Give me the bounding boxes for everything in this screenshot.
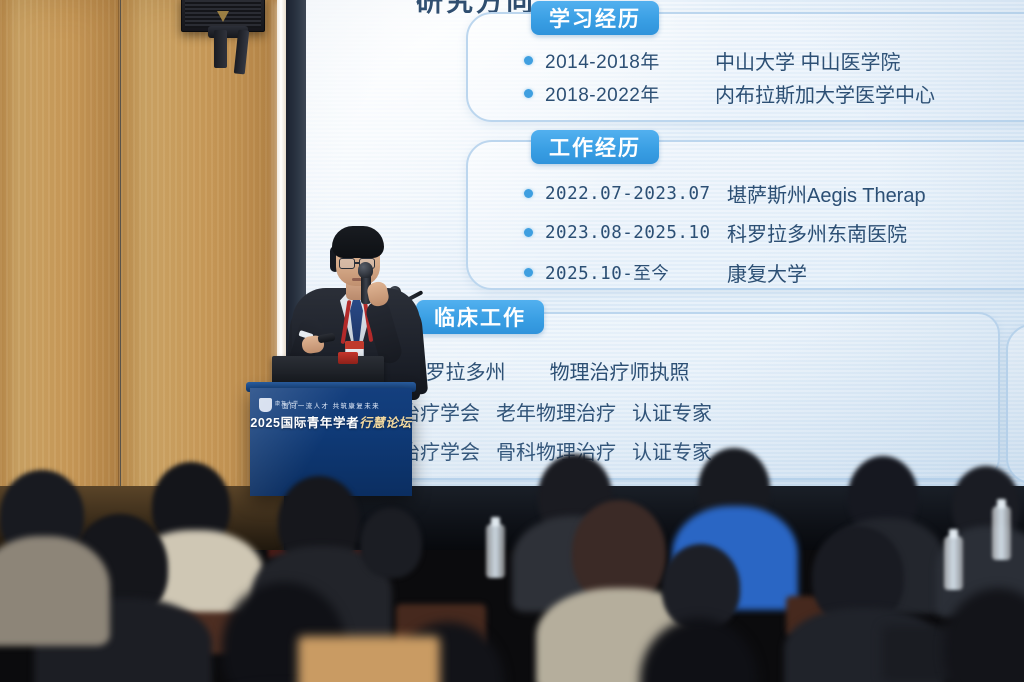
bullet-dot-icon bbox=[524, 228, 533, 237]
audience-torso bbox=[0, 536, 110, 646]
clinical-badge: 临床工作 bbox=[416, 300, 544, 334]
work-row: 2022.07-2023.07 堪萨斯州Aegis Therap bbox=[524, 179, 926, 208]
podium-calligraphy: 行慧论坛 bbox=[359, 416, 411, 430]
speaker-id-badge-top bbox=[345, 341, 364, 349]
education-row: 2018-2022年 内布拉斯加大学医学中心 bbox=[524, 79, 935, 108]
education-period: 2014-2018年 bbox=[545, 47, 715, 74]
bullet-dot-icon bbox=[524, 56, 533, 65]
water-bottle bbox=[944, 536, 963, 590]
audience-head bbox=[360, 508, 422, 578]
work-period: 2023.08-2025.10 bbox=[545, 223, 727, 243]
presentation-photo: 研究方向 学习经历 2014-2018年 中山大学 中山医学院 2018-202… bbox=[0, 0, 1024, 682]
podium-slogan: 面向一流人才 共筑康复未来 bbox=[250, 400, 412, 410]
clinical-right: 认证专家 bbox=[632, 397, 712, 426]
projection-screen: 研究方向 学习经历 2014-2018年 中山大学 中山医学院 2018-202… bbox=[306, 0, 1024, 486]
chair-back-foreground bbox=[298, 636, 440, 682]
work-detail: 科罗拉多州东南医院 bbox=[727, 218, 907, 247]
education-detail: 中山大学 中山医学院 bbox=[715, 46, 901, 75]
bullet-dot-icon bbox=[524, 89, 533, 98]
bullet-dot-icon bbox=[524, 268, 533, 277]
podium-year: 2025 bbox=[250, 416, 280, 430]
education-badge: 学习经历 bbox=[531, 1, 659, 35]
work-detail: 康复大学 bbox=[727, 258, 807, 287]
podium-banner-title: 2025国际青年学者行慧论坛 bbox=[250, 412, 412, 431]
red-object-on-podium bbox=[338, 352, 358, 364]
education-period: 2018-2022年 bbox=[545, 80, 715, 107]
audience bbox=[0, 440, 1024, 682]
work-row: 2025.10-至今 康复大学 bbox=[524, 258, 807, 287]
work-detail: 堪萨斯州Aegis Therap bbox=[727, 179, 926, 208]
podium-main-title: 国际青年学者 bbox=[281, 416, 360, 430]
work-badge: 工作经历 bbox=[531, 130, 659, 164]
education-detail: 内布拉斯加大学医学中心 bbox=[715, 79, 935, 108]
work-period: 2025.10-至今 bbox=[545, 260, 727, 285]
speaker-mount-arm bbox=[214, 30, 227, 68]
water-bottle bbox=[992, 506, 1011, 560]
microphone-icon bbox=[358, 262, 373, 278]
speaker-hair bbox=[332, 226, 384, 258]
bullet-dot-icon bbox=[524, 189, 533, 198]
glasses-icon bbox=[339, 258, 355, 269]
work-row: 2023.08-2025.10 科罗拉多州东南医院 bbox=[524, 218, 907, 247]
water-bottle bbox=[486, 524, 505, 578]
education-row: 2014-2018年 中山大学 中山医学院 bbox=[524, 46, 901, 75]
work-period: 2022.07-2023.07 bbox=[545, 184, 727, 204]
clinical-right: 物理治疗师执照 bbox=[550, 356, 690, 385]
clinical-mid: 老年物理治疗 bbox=[496, 397, 616, 426]
